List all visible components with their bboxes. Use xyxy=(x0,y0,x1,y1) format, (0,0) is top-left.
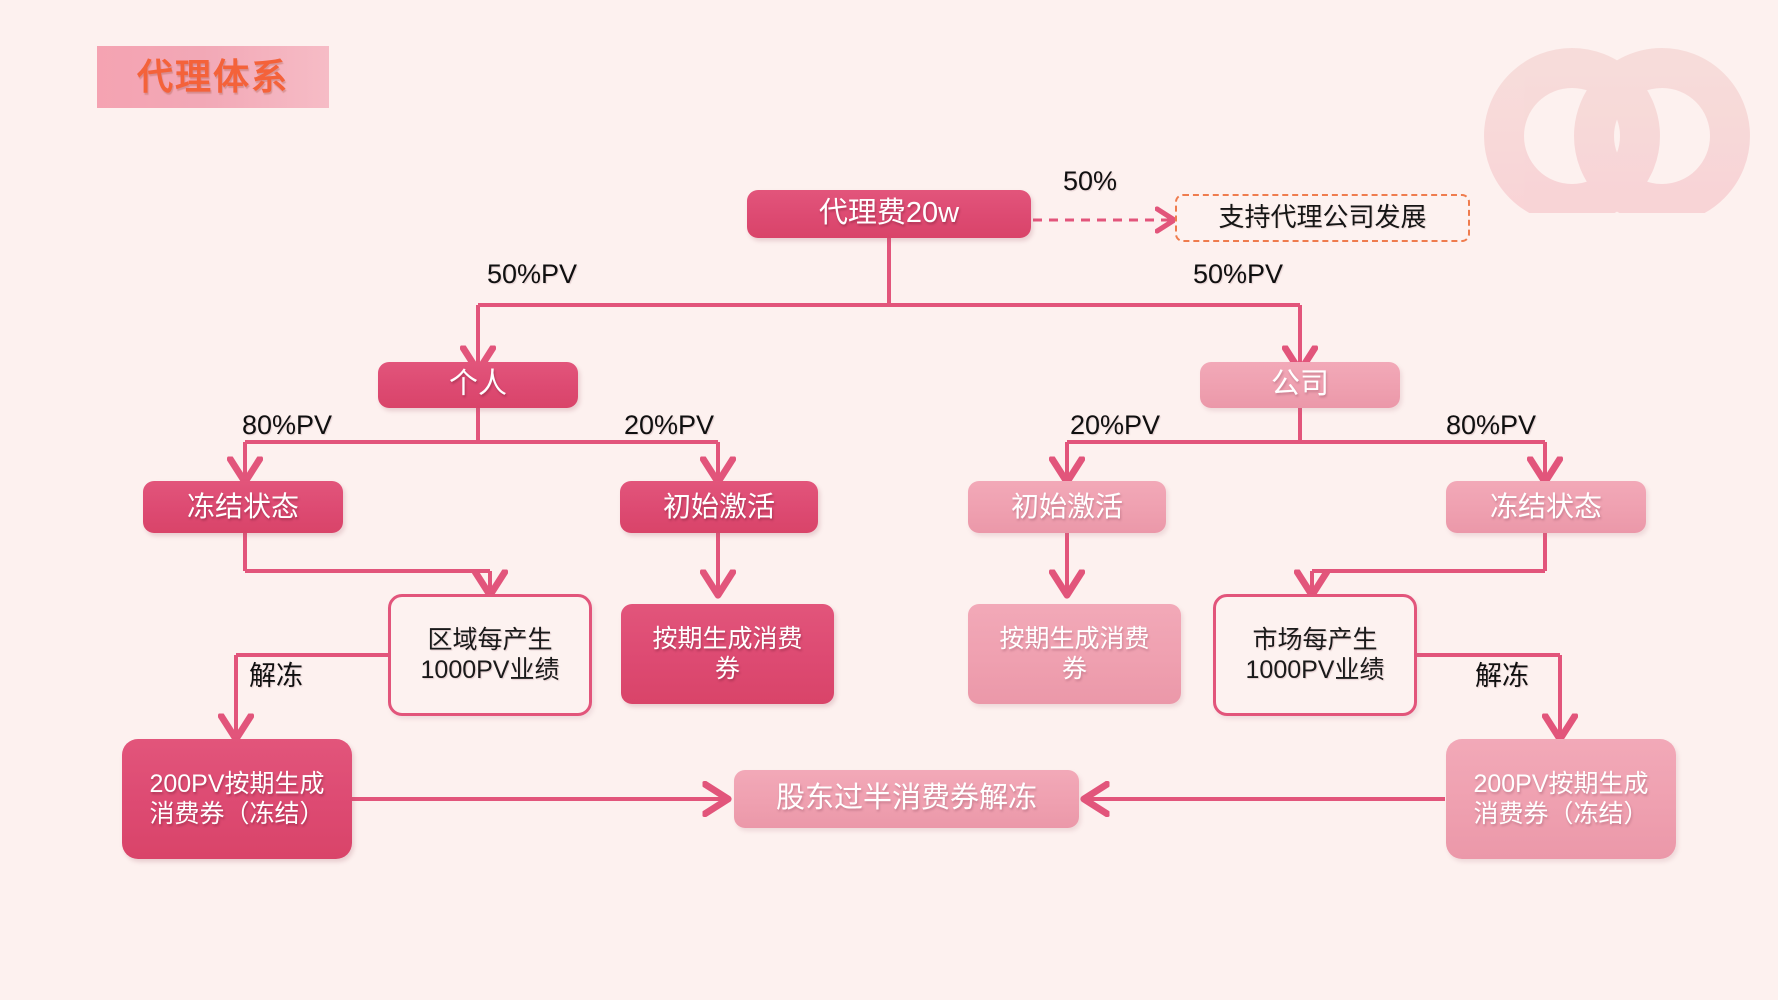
node-right-frozen-state[interactable]: 冻结状态 xyxy=(1446,481,1646,533)
edge-label-root-to-support: 50% xyxy=(1063,166,1117,197)
node-right-frozen-state-label: 冻结状态 xyxy=(1446,490,1646,524)
edge-label-personal-to-activation: 20%PV xyxy=(624,410,714,441)
edge-label-root-to-company: 50%PV xyxy=(1193,259,1283,290)
node-shareholder-unfreeze[interactable]: 股东过半消费券解冻 xyxy=(734,770,1079,828)
node-left-frozen-state-label: 冻结状态 xyxy=(143,490,343,524)
node-right-frozen-coupon-text: 200PV按期生成 消费券（冻结） xyxy=(1446,769,1676,830)
node-right-frozen-coupon-line1: 200PV按期生成 xyxy=(1473,770,1648,798)
node-company[interactable]: 公司 xyxy=(1200,362,1400,408)
node-left-region-pv-text: 区域每产生 1000PV业绩 xyxy=(391,625,589,686)
node-right-periodic-coupon-text: 按期生成消费 券 xyxy=(968,624,1181,685)
node-root-fee[interactable]: 代理费20w xyxy=(747,190,1031,238)
node-right-frozen-coupon-line2: 消费券（冻结） xyxy=(1473,800,1648,828)
node-support-agency-growth-label: 支持代理公司发展 xyxy=(1177,202,1468,234)
node-left-frozen-coupon-line2: 消费券（冻结） xyxy=(149,800,324,828)
node-personal-label: 个人 xyxy=(378,367,578,402)
node-personal[interactable]: 个人 xyxy=(378,362,578,408)
node-right-market-pv[interactable]: 市场每产生 1000PV业绩 xyxy=(1213,594,1417,716)
edge-label-company-to-activation: 20%PV xyxy=(1070,410,1160,441)
edge-label-personal-to-frozen: 80%PV xyxy=(242,410,332,441)
node-left-periodic-coupon-line2: 券 xyxy=(715,655,740,683)
node-left-frozen-state[interactable]: 冻结状态 xyxy=(143,481,343,533)
node-left-periodic-coupon[interactable]: 按期生成消费 券 xyxy=(621,604,834,704)
node-company-label: 公司 xyxy=(1200,367,1400,402)
node-left-periodic-coupon-line1: 按期生成消费 xyxy=(652,625,802,653)
node-left-region-pv[interactable]: 区域每产生 1000PV业绩 xyxy=(388,594,592,716)
node-right-periodic-coupon-line2: 券 xyxy=(1062,655,1087,683)
node-shareholder-unfreeze-label: 股东过半消费券解冻 xyxy=(734,781,1079,816)
node-support-agency-growth[interactable]: 支持代理公司发展 xyxy=(1175,194,1470,242)
node-left-initial-activation[interactable]: 初始激活 xyxy=(620,481,818,533)
node-left-frozen-coupon-line1: 200PV按期生成 xyxy=(149,770,324,798)
page-title: 代理体系 xyxy=(97,46,329,108)
diagram-canvas: 代理体系 xyxy=(0,0,1778,1000)
node-left-initial-activation-label: 初始激活 xyxy=(620,490,818,524)
edge-label-right-unfreeze: 解冻 xyxy=(1475,654,1529,693)
edge-label-company-to-frozen: 80%PV xyxy=(1446,410,1536,441)
node-right-market-pv-line1: 市场每产生 xyxy=(1252,626,1377,654)
node-left-region-pv-line1: 区域每产生 xyxy=(427,626,552,654)
node-root-fee-label: 代理费20w xyxy=(747,196,1031,231)
edge-label-root-to-personal: 50%PV xyxy=(487,259,577,290)
node-left-periodic-coupon-text: 按期生成消费 券 xyxy=(621,624,834,685)
node-left-region-pv-line2: 1000PV业绩 xyxy=(421,656,560,684)
edge-label-left-unfreeze: 解冻 xyxy=(249,654,303,693)
page-title-text: 代理体系 xyxy=(137,59,289,95)
node-right-market-pv-line2: 1000PV业绩 xyxy=(1246,656,1385,684)
node-right-market-pv-text: 市场每产生 1000PV业绩 xyxy=(1216,625,1414,686)
node-right-periodic-coupon-line1: 按期生成消费 xyxy=(999,625,1149,653)
node-right-frozen-coupon[interactable]: 200PV按期生成 消费券（冻结） xyxy=(1446,739,1676,859)
node-left-frozen-coupon[interactable]: 200PV按期生成 消费券（冻结） xyxy=(122,739,352,859)
node-right-periodic-coupon[interactable]: 按期生成消费 券 xyxy=(968,604,1181,704)
double-ring-logo xyxy=(1464,18,1764,213)
node-right-initial-activation-label: 初始激活 xyxy=(968,490,1166,524)
node-right-initial-activation[interactable]: 初始激活 xyxy=(968,481,1166,533)
node-left-frozen-coupon-text: 200PV按期生成 消费券（冻结） xyxy=(122,769,352,830)
